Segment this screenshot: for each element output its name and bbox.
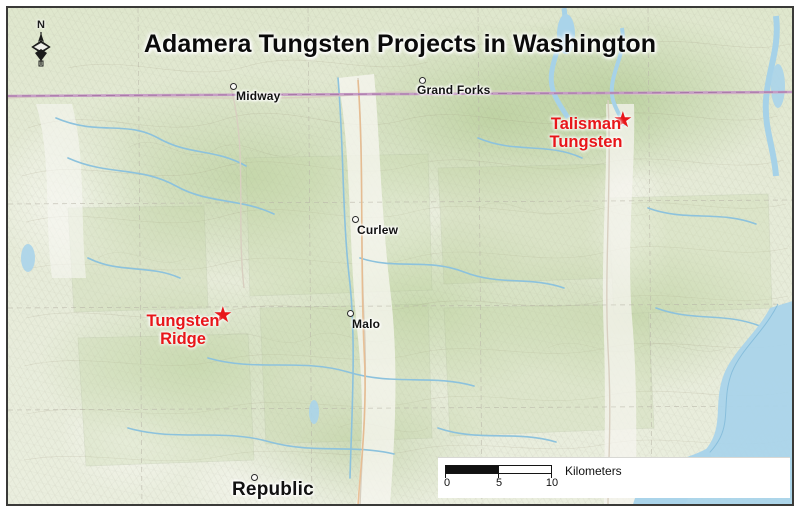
town-label-text: Midway [236,89,281,103]
map-frame: Adamera Tungsten Projects in Washington … [6,6,794,506]
map-vector-layer [8,8,794,506]
north-arrow: N [26,19,56,71]
project-label-line1: Talisman [539,115,633,133]
town-label-text: Malo [352,317,380,331]
project-label-line1: Tungsten [136,312,230,330]
town-label-text: Grand Forks [417,83,491,97]
scale-bar-track [445,465,552,474]
project-label-talisman-tungsten: Talisman Tungsten [539,115,633,151]
town-label-midway: Midway [236,87,281,105]
town-label-republic: Republic [232,479,314,501]
scale-label-0: 0 [444,477,450,489]
town-label-malo: Malo [352,315,380,333]
town-label-grand-forks: Grand Forks [417,81,491,99]
north-arrow-label: N [26,19,56,31]
scale-bar-fill [446,466,499,473]
scale-bar: 0 5 10 Kilometers [438,457,790,498]
project-label-line2: Tungsten [539,133,633,151]
project-label-line2: Ridge [136,330,230,348]
project-label-tungsten-ridge: Tungsten Ridge [136,312,230,348]
town-label-curlew: Curlew [357,221,398,239]
page-title: Adamera Tungsten Projects in Washington [8,30,792,59]
scale-label-5: 5 [496,477,502,489]
town-label-text: Republic [232,479,314,500]
scale-units-label: Kilometers [565,464,622,478]
map-page: Adamera Tungsten Projects in Washington … [0,0,800,517]
scale-label-10: 10 [546,477,558,489]
town-label-text: Curlew [357,223,398,237]
scale-bar-inner: 0 5 10 Kilometers [445,465,552,474]
